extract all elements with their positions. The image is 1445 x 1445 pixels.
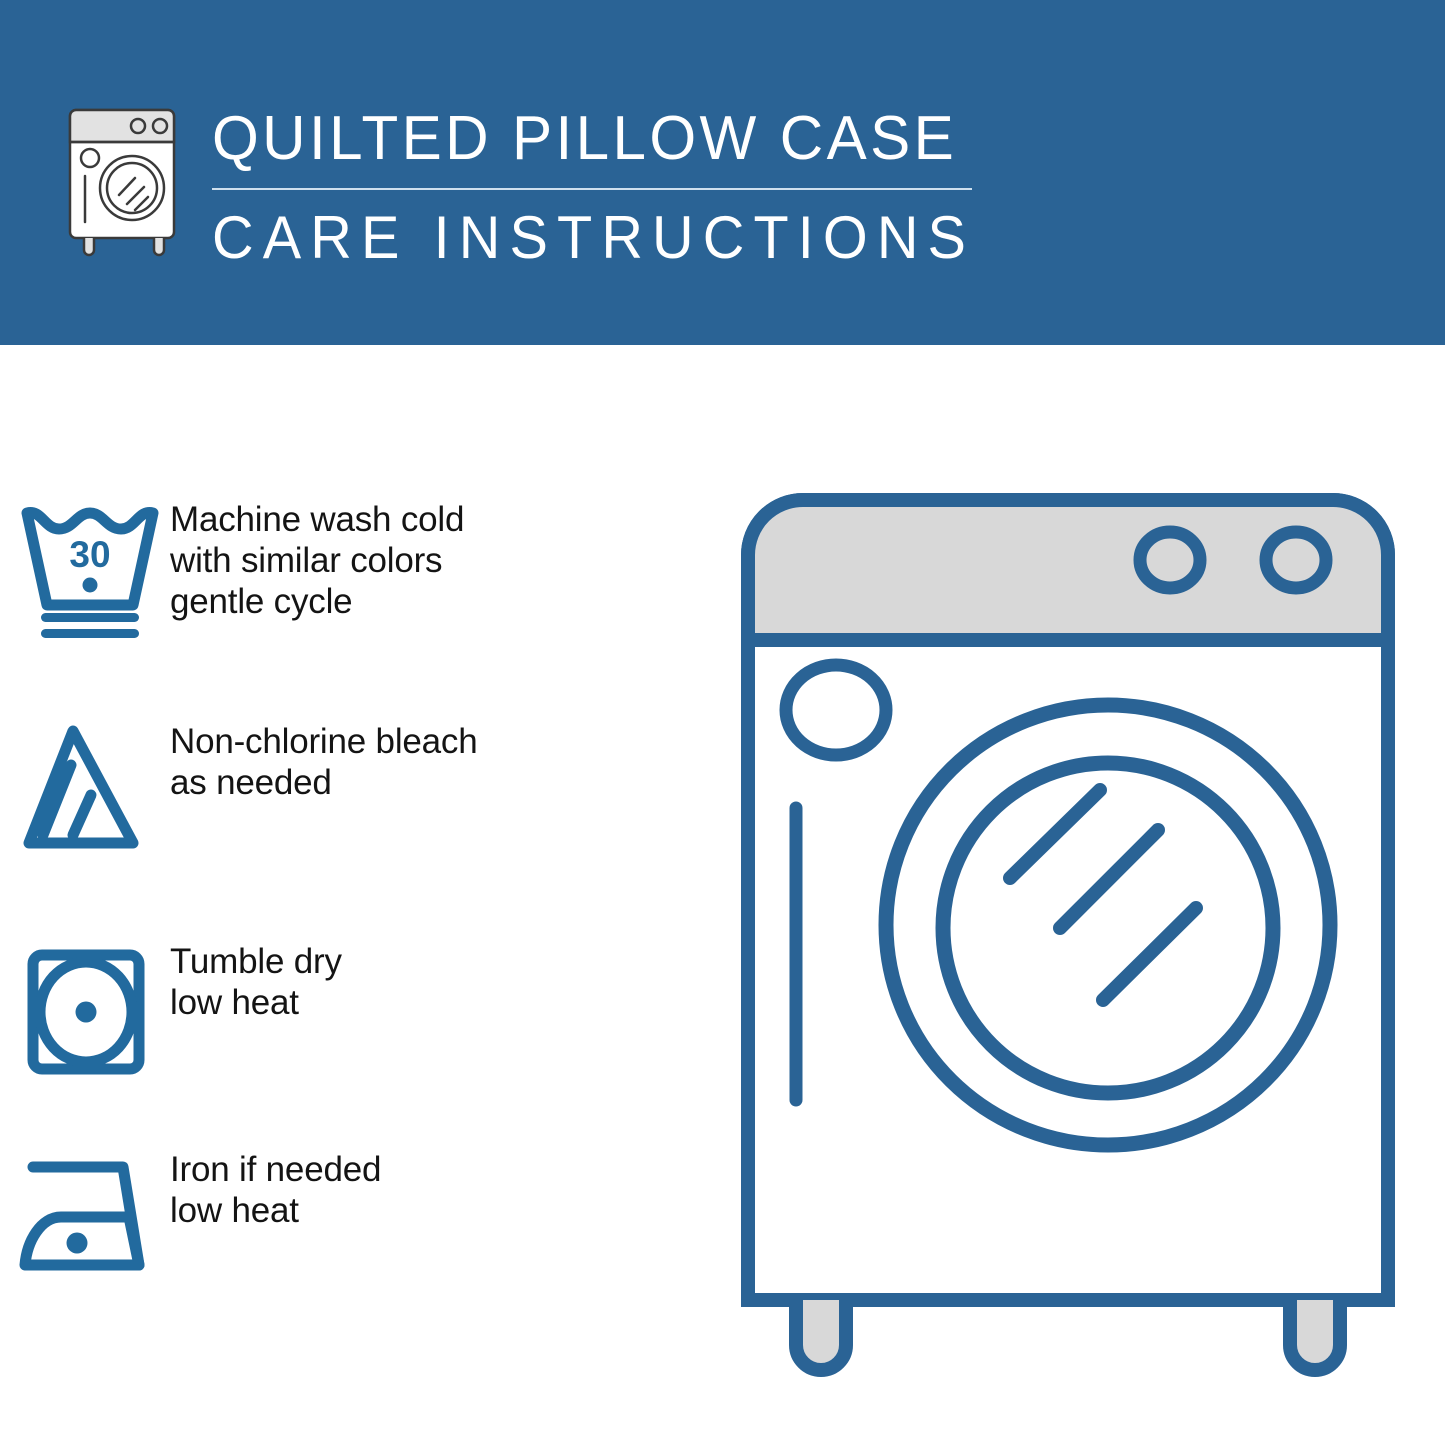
foot-right xyxy=(1290,1300,1340,1370)
instruction-text-wash: Machine wash cold with similar colors ge… xyxy=(170,495,464,622)
tumble-dry-low-heat-icon xyxy=(0,937,170,1087)
instruction-text-iron: Iron if needed low heat xyxy=(170,1145,381,1231)
wash-temperature-value: 30 xyxy=(69,534,110,575)
instruction-text-bleach: Non-chlorine bleach as needed xyxy=(170,717,478,803)
wash-basin-30-gentle-icon: 30 xyxy=(0,495,170,645)
door-inner-ring xyxy=(943,763,1273,1093)
instruction-row-dry: Tumble dry low heat xyxy=(0,937,700,1087)
instruction-row-bleach: Non-chlorine bleach as needed xyxy=(0,717,700,867)
front-load-washing-machine-illustration xyxy=(718,460,1418,1380)
care-instructions-page: QUILTED PILLOW CASE CARE INSTRUCTIONS 30 xyxy=(0,0,1445,1445)
knob-right xyxy=(1266,532,1326,588)
knob-left xyxy=(1140,532,1200,588)
iron-low-heat-icon xyxy=(0,1145,170,1295)
non-chlorine-bleach-triangle-icon xyxy=(0,717,170,867)
instruction-row-wash: 30 Machine wash cold with similar colors… xyxy=(0,495,700,645)
foot-left xyxy=(796,1300,846,1370)
page-title: QUILTED PILLOW CASE xyxy=(212,100,978,178)
instruction-text-dry: Tumble dry low heat xyxy=(170,937,342,1023)
instruction-list: 30 Machine wash cold with similar colors… xyxy=(0,345,700,1445)
instruction-row-iron: Iron if needed low heat xyxy=(0,1145,700,1295)
title-divider xyxy=(212,188,972,190)
header-band: QUILTED PILLOW CASE CARE INSTRUCTIONS xyxy=(0,0,1445,345)
header-title-group: QUILTED PILLOW CASE CARE INSTRUCTIONS xyxy=(212,100,1002,274)
detergent-dispenser-circle xyxy=(786,665,886,755)
page-subtitle: CARE INSTRUCTIONS xyxy=(212,202,970,274)
washing-machine-logo-icon xyxy=(62,100,190,260)
